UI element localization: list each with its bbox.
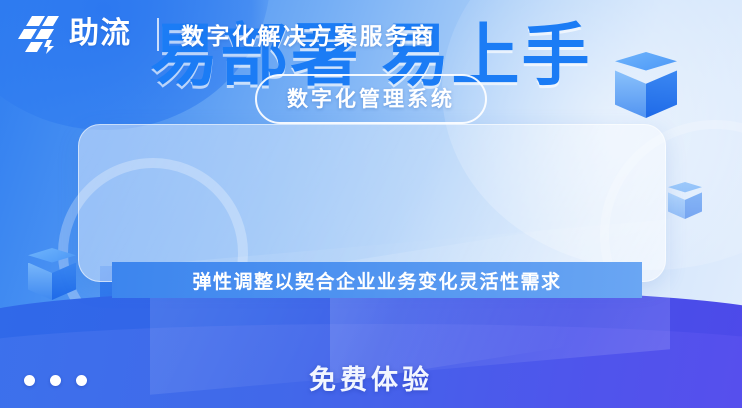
- lightning-bolt-blocks-icon: [18, 14, 62, 54]
- carousel-dot-3[interactable]: [76, 375, 87, 386]
- carousel-dot-1[interactable]: [24, 375, 35, 386]
- brand-logo[interactable]: 助流: [18, 14, 131, 54]
- header-tagline: 数字化解决方案服务商: [181, 17, 436, 51]
- header-divider: [157, 18, 159, 51]
- cube-icon-small: [668, 182, 702, 219]
- banner-header: 助流 数字化解决方案服务商: [0, 0, 742, 68]
- carousel-indicators[interactable]: [24, 375, 87, 386]
- cube-icon-left: [28, 248, 76, 300]
- carousel-dot-2[interactable]: [50, 375, 61, 386]
- hero-subtext-band: 弹性调整以契合企业业务变化灵活性需求: [112, 262, 642, 298]
- category-pill: 数字化管理系统: [255, 74, 487, 124]
- brand-name: 助流: [69, 19, 131, 49]
- cta-container[interactable]: 免费体验: [0, 358, 742, 397]
- free-trial-button-label: 免费体验: [309, 365, 433, 395]
- hero-card: [78, 124, 666, 282]
- hero-subtext: 弹性调整以契合企业业务变化灵活性需求: [192, 267, 561, 294]
- promo-banner: 助流 数字化解决方案服务商 数字化管理系统 易部署 易上手 弹性调整以契合企业业…: [0, 0, 742, 408]
